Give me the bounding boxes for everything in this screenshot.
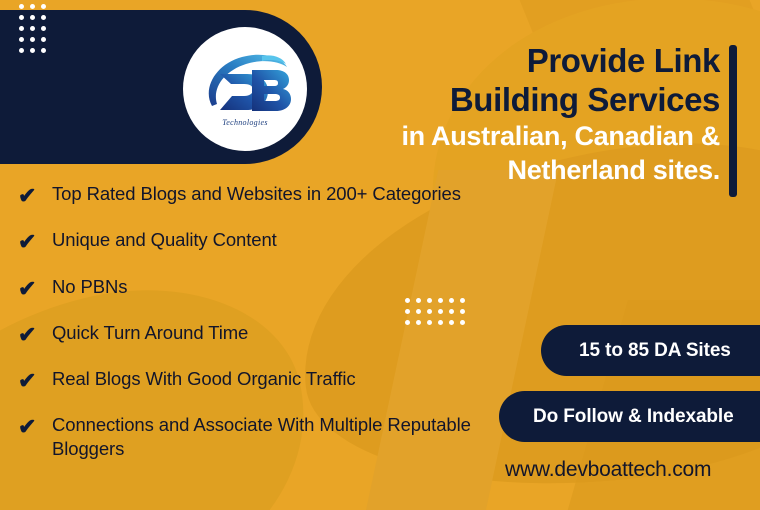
dot [30,37,35,42]
dot [30,4,35,9]
dot [30,15,35,20]
dot [30,48,35,53]
check-icon: ✔ [18,275,52,301]
list-item: ✔ Top Rated Blogs and Websites in 200+ C… [18,182,488,208]
dot [19,15,24,20]
dot [19,48,24,53]
feature-list: ✔ Top Rated Blogs and Websites in 200+ C… [18,182,488,461]
check-icon: ✔ [18,182,52,208]
list-item: ✔ Unique and Quality Content [18,228,488,254]
headline-line-1: Provide Link [260,42,720,81]
headline-line-2: Building Services [260,81,720,120]
headline-block: Provide Link Building Services in Austra… [260,42,720,187]
badge-do-follow: Do Follow & Indexable [499,391,760,442]
dot [41,26,46,31]
headline-line-3: in Australian, Canadian & [260,121,720,153]
list-item: ✔ Connections and Associate With Multipl… [18,413,488,460]
list-item: ✔ Real Blogs With Good Organic Traffic [18,367,488,393]
badge-do-follow-label: Do Follow & Indexable [533,406,734,428]
website-url[interactable]: www.devboattech.com [505,458,711,482]
feature-label: Real Blogs With Good Organic Traffic [52,367,356,391]
list-item: ✔ Quick Turn Around Time [18,321,488,347]
dot [30,26,35,31]
check-icon: ✔ [18,413,52,439]
promo-banner: Technologies Provide Link Building Servi… [0,0,760,510]
feature-label: Quick Turn Around Time [52,321,248,345]
dot [41,4,46,9]
check-icon: ✔ [18,228,52,254]
check-icon: ✔ [18,367,52,393]
dot [19,37,24,42]
dot [19,4,24,9]
feature-label: No PBNs [52,275,127,299]
dot [41,15,46,20]
badge-da-sites-label: 15 to 85 DA Sites [579,340,731,362]
badge-da-sites: 15 to 85 DA Sites [541,325,760,376]
dot [41,37,46,42]
dot-grid-top-left [19,4,52,59]
feature-label: Unique and Quality Content [52,228,277,252]
feature-label: Connections and Associate With Multiple … [52,413,488,460]
dot [41,48,46,53]
check-icon: ✔ [18,321,52,347]
dot [19,26,24,31]
feature-label: Top Rated Blogs and Websites in 200+ Cat… [52,182,461,206]
headline-accent-bar [729,45,737,197]
list-item: ✔ No PBNs [18,275,488,301]
